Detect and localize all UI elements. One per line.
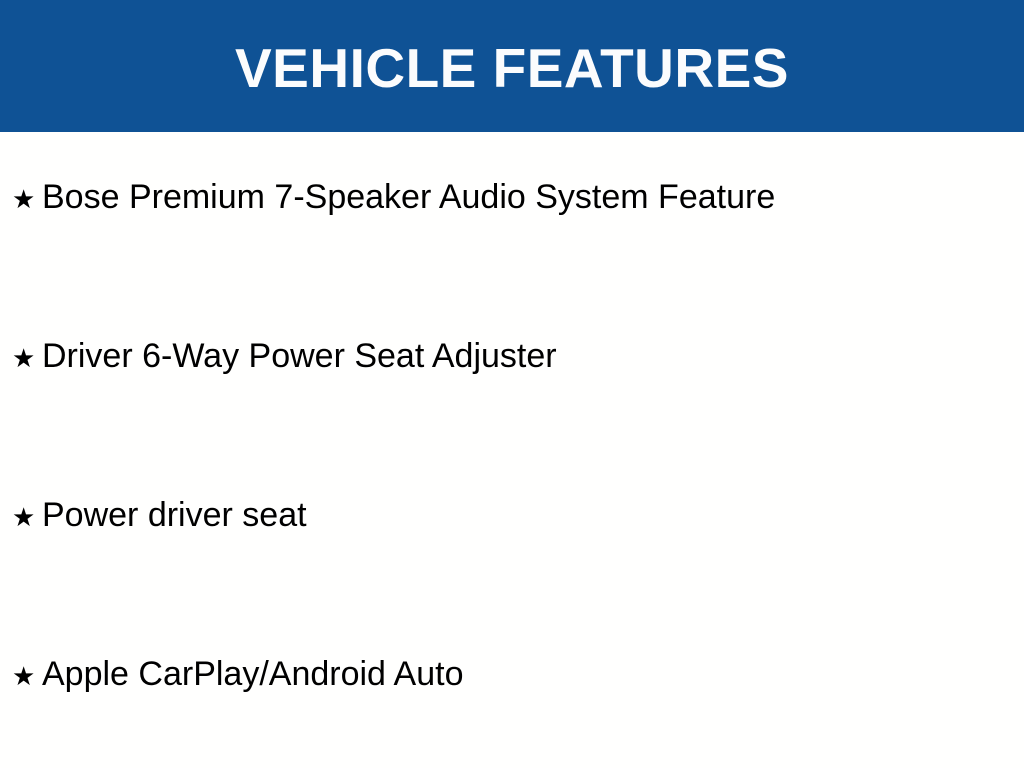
star-bullet-icon: ★ — [12, 664, 42, 690]
vehicle-features-list: ★ Bose Premium 7-Speaker Audio System Fe… — [0, 132, 1024, 768]
list-item: ★ Apple CarPlay/Android Auto — [0, 657, 1024, 705]
list-item: ★ Power driver seat — [0, 498, 1024, 546]
star-bullet-icon: ★ — [12, 187, 42, 213]
star-bullet-icon: ★ — [12, 505, 42, 531]
star-bullet-icon: ★ — [12, 346, 42, 372]
feature-label: Apple CarPlay/Android Auto — [42, 657, 463, 691]
feature-label: Bose Premium 7-Speaker Audio System Feat… — [42, 180, 775, 214]
slide-header-band: VEHICLE FEATURES — [0, 0, 1024, 132]
feature-label: Power driver seat — [42, 498, 307, 532]
list-item: ★ Driver 6-Way Power Seat Adjuster — [0, 339, 1024, 387]
feature-label: Driver 6-Way Power Seat Adjuster — [42, 339, 557, 373]
vehicle-features-slide: VEHICLE FEATURES ★ Bose Premium 7-Speake… — [0, 0, 1024, 768]
list-item: ★ Bose Premium 7-Speaker Audio System Fe… — [0, 180, 1024, 228]
page-title: VEHICLE FEATURES — [235, 41, 789, 96]
